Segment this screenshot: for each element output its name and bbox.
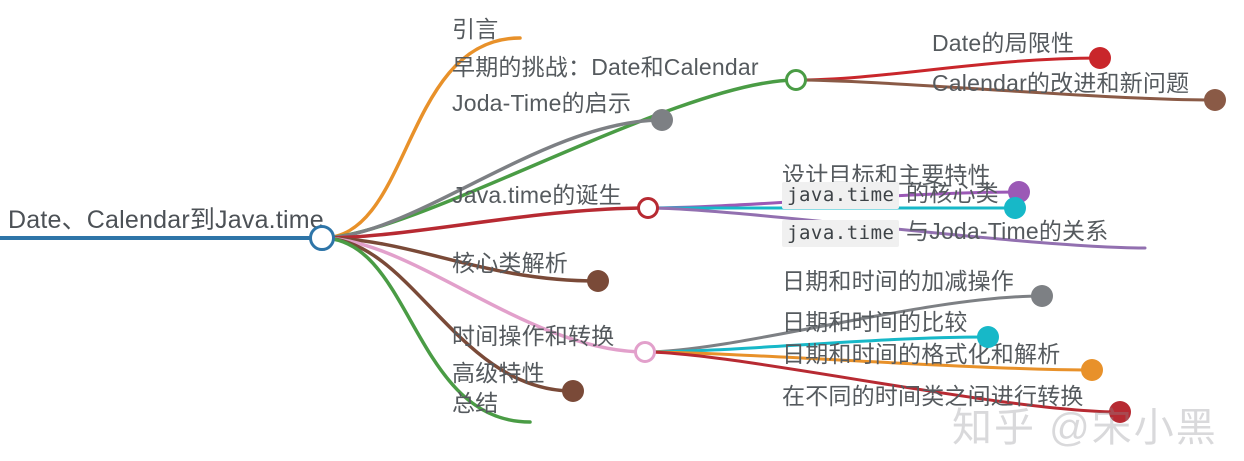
branch-label[interactable]: 早期的挑战：Date和Calendar <box>452 56 759 79</box>
branch-endpoint-dot[interactable] <box>651 109 673 131</box>
root-node-label[interactable]: Date、Calendar到Java.time <box>8 208 324 233</box>
branch-label[interactable]: 日期和时间的格式化和解析 <box>782 343 1060 366</box>
branch-endpoint-dot[interactable] <box>1031 285 1053 307</box>
branch-endpoint-dot[interactable] <box>1081 359 1103 381</box>
branch-node-ring[interactable] <box>785 69 807 91</box>
branch-label[interactable]: 高级特性 <box>452 362 545 385</box>
branch-label[interactable]: 核心类解析 <box>452 252 568 275</box>
branch-node-ring[interactable] <box>637 197 659 219</box>
branch-endpoint-dot[interactable] <box>562 380 584 402</box>
branch-label-text: 与Joda-Time的关系 <box>899 218 1108 244</box>
branch-label[interactable]: 在不同的时间类之间进行转换 <box>782 385 1084 408</box>
branch-label[interactable]: 总结 <box>452 392 498 415</box>
branch-endpoint-dot[interactable] <box>977 326 999 348</box>
branch-endpoint-dot[interactable] <box>587 270 609 292</box>
mindmap-canvas: Date、Calendar到Java.time引言早期的挑战：Date和Cale… <box>0 0 1244 461</box>
branch-label[interactable]: Calendar的改进和新问题 <box>932 72 1189 95</box>
branch-endpoint-dot[interactable] <box>1109 401 1131 423</box>
branch-label[interactable]: Joda-Time的启示 <box>452 92 631 115</box>
inline-code: java.time <box>782 220 899 247</box>
branch-label[interactable]: Date的局限性 <box>932 32 1074 55</box>
branch-endpoint-dot[interactable] <box>1089 47 1111 69</box>
branch-label[interactable]: 日期和时间的加减操作 <box>782 270 1014 293</box>
inline-code: java.time <box>782 182 899 209</box>
branch-label[interactable]: 日期和时间的比较 <box>782 311 968 334</box>
branch-label-text: 的核心类 <box>899 180 998 206</box>
branch-label[interactable]: 时间操作和转换 <box>452 325 614 348</box>
branch-node-ring[interactable] <box>634 341 656 363</box>
branch-endpoint-dot[interactable] <box>1204 89 1226 111</box>
branch-label[interactable]: Java.time的诞生 <box>452 184 622 207</box>
branch-label[interactable]: java.time 与Joda-Time的关系 <box>782 220 1108 243</box>
branch-label[interactable]: java.time 的核心类 <box>782 182 999 205</box>
branch-endpoint-dot[interactable] <box>1004 197 1026 219</box>
branch-label[interactable]: 引言 <box>452 18 498 41</box>
root-node-ring[interactable] <box>309 225 335 251</box>
